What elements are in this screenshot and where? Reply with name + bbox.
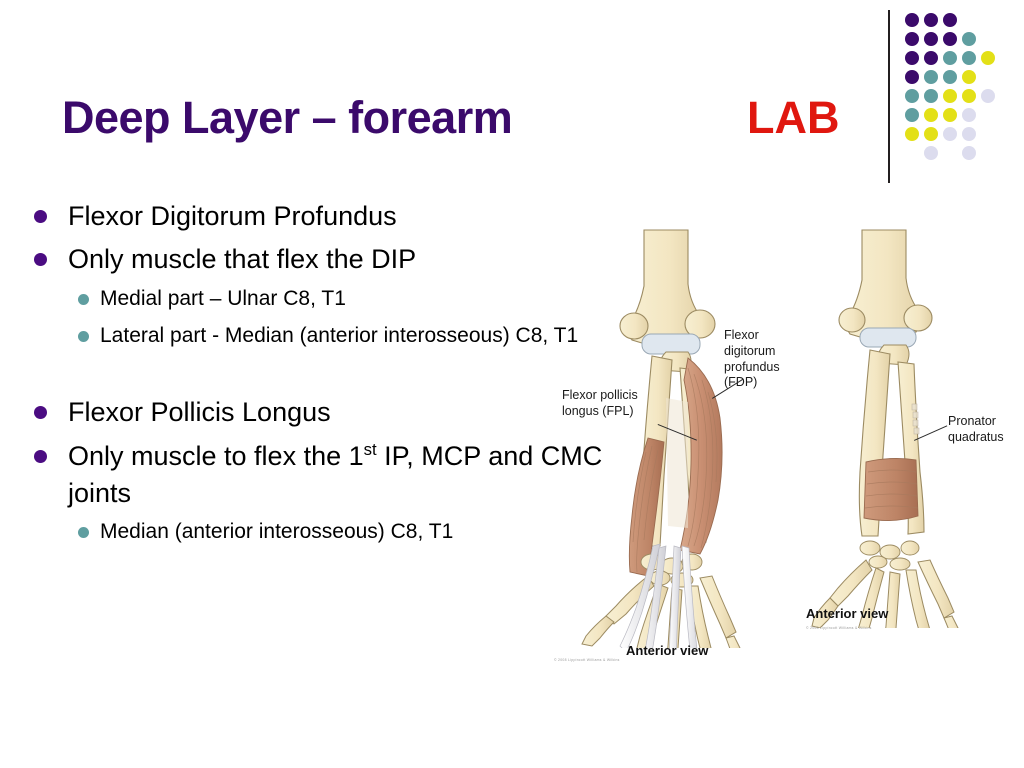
fpl-label: Flexor pollicis longus (FPL) [562,388,666,420]
header-divider-rule [888,10,890,183]
bullet-text: Lateral part - Median (anterior inteross… [100,324,578,347]
logo-dot-purple [905,70,919,84]
bullet-item-level1: Only muscle to flex the 1st IP, MCP and … [0,438,610,513]
bullet-marker-teal-icon [78,294,89,305]
page-title: Deep Layer – forearm [62,92,512,144]
bullet-marker-teal-icon [78,331,89,342]
logo-dot-purple [924,51,938,65]
bullet-text: Only muscle that flex the DIP [68,244,416,274]
logo-dot-lavender [962,108,976,122]
logo-dot-purple [943,32,957,46]
bullet-marker-purple-icon [34,210,47,223]
logo-dot-teal [924,70,938,84]
logo-dot-lavender [962,146,976,160]
bullet-marker-purple-icon [34,406,47,419]
figure-right-credit: © 2008 Lippincott Williams & Wilkins [806,626,872,630]
logo-dot-purple [943,13,957,27]
figure-group: Flexor digitorum profundus (FDP) Flexor … [548,228,1024,678]
logo-dot-teal [905,108,919,122]
logo-dot-purple [905,51,919,65]
logo-dot-yellow [943,108,957,122]
bullet-marker-teal-icon [78,527,89,538]
logo-dot-teal [943,51,957,65]
logo-dot-purple [905,32,919,46]
slide-body-content: Flexor Digitorum ProfundusOnly muscle th… [0,198,610,556]
pronator-quadratus-label: Pronator quadratus [948,414,1024,446]
logo-dot-purple [924,32,938,46]
slide-title-block: Deep Layer – forearm LAB [0,92,880,154]
figure-right-pronator: Pronator quadratus Anterior view © 2008 … [800,228,1024,678]
bullet-text: Flexor Digitorum Profundus [68,201,397,231]
logo-dot-yellow [905,127,919,141]
bullet-group-spacer [0,360,610,394]
bullet-marker-purple-icon [34,450,47,463]
logo-dot-yellow [943,89,957,103]
bullet-item-level2: Medial part – Ulnar C8, T1 [0,285,610,314]
logo-dot-teal [905,89,919,103]
figure-left-credit: © 2008 Lippincott Williams & Wilkins [554,658,620,662]
figure-left-caption: Anterior view [626,643,708,658]
bullet-text: Flexor Pollicis Longus [68,397,331,427]
logo-dot-yellow [924,108,938,122]
lab-badge: LAB [747,92,839,144]
bullet-item-level1: Flexor Pollicis Longus [0,394,610,431]
logo-dot-yellow [962,70,976,84]
bullet-item-level1: Only muscle that flex the DIP [0,241,610,278]
figure-right-caption: Anterior view [806,606,888,621]
logo-dot-teal [962,51,976,65]
bullet-text: Medial part – Ulnar C8, T1 [100,287,346,310]
bullet-text: Median (anterior interosseous) C8, T1 [100,520,453,543]
logo-dot-yellow [924,127,938,141]
logo-dot-yellow [981,51,995,65]
logo-dot-lavender [981,89,995,103]
bullet-item-level1: Flexor Digitorum Profundus [0,198,610,235]
logo-dot-teal [924,89,938,103]
bullet-text: Only muscle to flex the 1st IP, MCP and … [68,441,602,508]
logo-dot-purple [924,13,938,27]
bullet-marker-purple-icon [34,253,47,266]
logo-dot-lavender [924,146,938,160]
logo-dot-teal [943,70,957,84]
logo-dot-teal [962,32,976,46]
dot-grid-logo [896,4,1024,184]
logo-dot-lavender [943,127,957,141]
logo-dot-purple [905,13,919,27]
bullet-item-level2: Lateral part - Median (anterior inteross… [0,322,610,351]
figure-left-deep-layer: Flexor digitorum profundus (FDP) Flexor … [548,228,838,678]
logo-dot-lavender [962,127,976,141]
logo-dot-yellow [962,89,976,103]
ordinal-suffix: st [364,440,377,459]
bullet-item-level2: Median (anterior interosseous) C8, T1 [0,518,610,547]
